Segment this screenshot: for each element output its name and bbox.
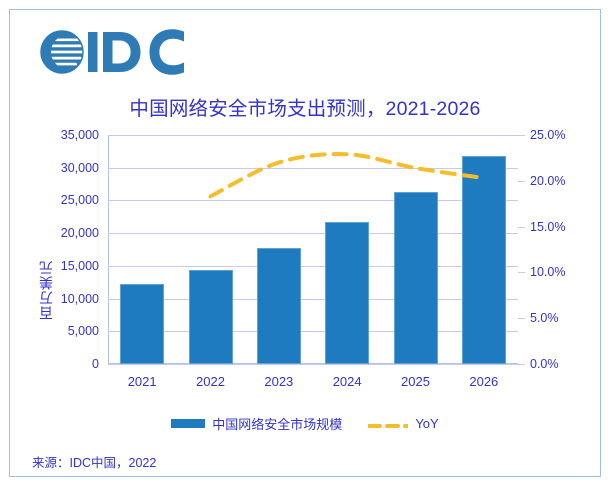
bar[interactable] xyxy=(462,156,506,364)
x-axis-tick-label: 2026 xyxy=(469,374,498,389)
y2-axis-tick-label: 20.0% xyxy=(530,174,565,188)
y-axis-tick-label: 25,000 xyxy=(61,193,99,207)
gridline xyxy=(108,266,518,267)
y-axis-tick-label: 35,000 xyxy=(61,128,99,142)
y-axis-tick-label: 10,000 xyxy=(61,292,99,306)
legend-item-bar[interactable]: 中国网络安全市场规模 xyxy=(171,414,342,433)
chart-legend: 中国网络安全市场规模 YoY xyxy=(10,414,600,433)
bar[interactable] xyxy=(189,270,233,364)
x-axis-tick-label: 2021 xyxy=(128,374,157,389)
y2-axis-tick-label: 25.0% xyxy=(530,128,565,142)
yoy-line[interactable] xyxy=(211,154,484,196)
y-axis-tick-label: 5,000 xyxy=(68,324,99,338)
idc-logo xyxy=(36,26,206,78)
x-axis-tick-label: 2022 xyxy=(196,374,225,389)
y2-axis-tickmark xyxy=(518,227,525,228)
x-axis-tick-label: 2025 xyxy=(401,374,430,389)
gridline xyxy=(108,168,518,169)
chart-card: 中国网络安全市场支出预测，2021-2026 百万美元 05,00010,000… xyxy=(9,9,601,477)
x-axis-tick-label: 2023 xyxy=(264,374,293,389)
y2-axis-tickmark xyxy=(518,364,525,365)
idc-wordmark xyxy=(88,29,184,75)
legend-bar-label: 中国网络安全市场规模 xyxy=(212,414,342,433)
y-axis-title: 百万美元 xyxy=(36,260,56,320)
gridline xyxy=(108,233,518,234)
bar[interactable] xyxy=(257,248,301,364)
gridline xyxy=(108,331,518,332)
page-title: 中国网络安全市场支出预测，2021-2026 xyxy=(10,92,600,121)
y2-axis-tickmark xyxy=(518,318,525,319)
legend-bar-swatch-icon xyxy=(171,419,205,428)
bar[interactable] xyxy=(394,192,438,364)
plot-area: 05,00010,00015,00020,00025,00030,00035,0… xyxy=(108,135,518,364)
gridline xyxy=(108,200,518,201)
y-axis-tick-label: 0 xyxy=(92,357,99,371)
gridline xyxy=(108,135,518,136)
gridline xyxy=(108,364,518,365)
legend-dashed-line-icon xyxy=(368,419,408,429)
source-note: 来源：IDC中国，2022 xyxy=(32,452,156,471)
yoy-line-series xyxy=(108,135,518,364)
x-axis-tick-label: 2024 xyxy=(333,374,362,389)
y2-axis-tickmark xyxy=(518,181,525,182)
y2-axis-tickmark xyxy=(518,135,525,136)
legend-line-label: YoY xyxy=(415,416,438,431)
y2-axis-tick-label: 5.0% xyxy=(530,311,559,325)
y2-axis-tickmark xyxy=(518,272,525,273)
gridline xyxy=(108,299,518,300)
y-axis-tick-label: 15,000 xyxy=(61,259,99,273)
y-axis-tick-label: 30,000 xyxy=(61,161,99,175)
bar[interactable] xyxy=(120,284,164,364)
y2-axis-tick-label: 10.0% xyxy=(530,265,565,279)
y2-axis-tick-label: 0.0% xyxy=(530,357,559,371)
y-axis-tick-label: 20,000 xyxy=(61,226,99,240)
y2-axis-tick-label: 15.0% xyxy=(530,220,565,234)
bar[interactable] xyxy=(325,222,369,364)
y-axis-line xyxy=(108,135,109,364)
idc-globe-icon xyxy=(40,31,84,73)
legend-item-line[interactable]: YoY xyxy=(368,416,438,431)
